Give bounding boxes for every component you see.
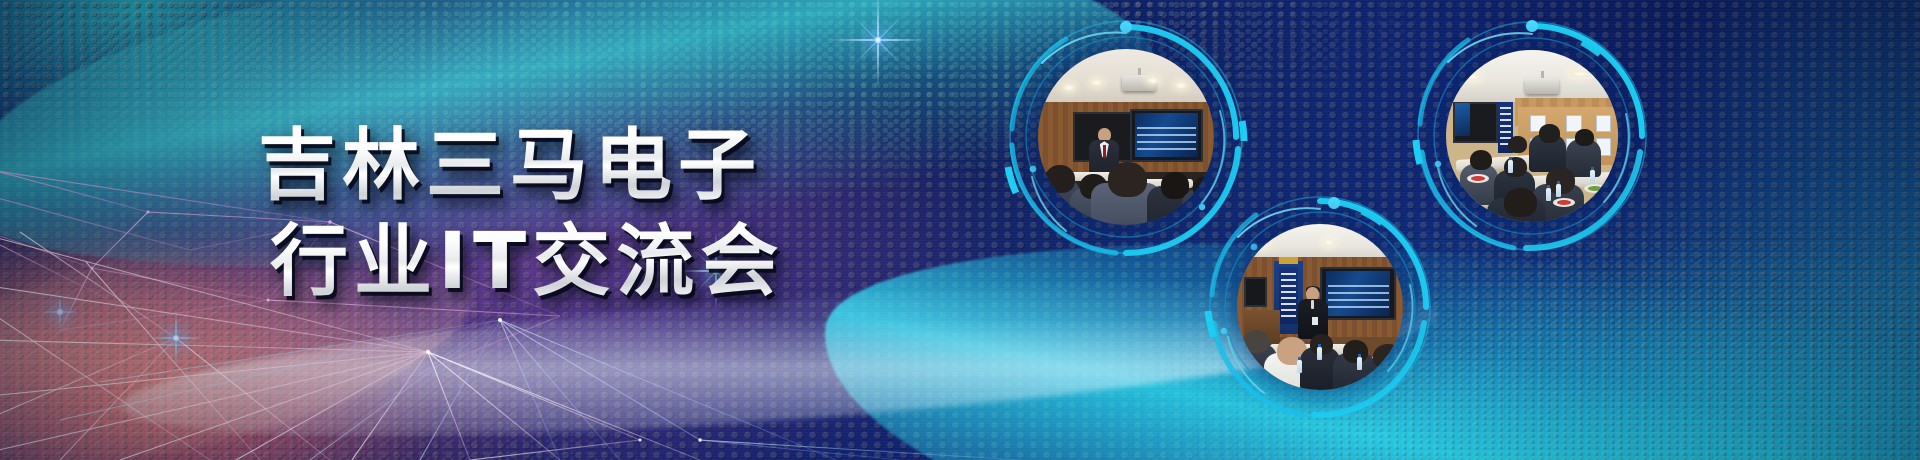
scene-auditorium bbox=[1038, 49, 1214, 225]
cabinet-shelf-cell bbox=[1596, 115, 1611, 133]
presenter-tie bbox=[1103, 145, 1106, 158]
photo-bubble-speaker-microphone[interactable] bbox=[1206, 193, 1434, 421]
screen-content-lines bbox=[1137, 127, 1196, 151]
audience-head bbox=[1045, 165, 1075, 193]
photo-speaker-microphone bbox=[1237, 224, 1403, 390]
participant-head bbox=[1343, 340, 1368, 363]
water-bottle bbox=[1508, 160, 1513, 173]
attendee-head bbox=[1575, 129, 1594, 146]
ceiling-panel-light bbox=[1463, 74, 1481, 80]
scene-speaker-room bbox=[1237, 224, 1403, 390]
ceiling-projector bbox=[1525, 78, 1559, 94]
attendee-head bbox=[1539, 124, 1560, 143]
water-bottle bbox=[1357, 357, 1362, 370]
door-banner bbox=[1279, 267, 1299, 323]
attendee-head bbox=[1470, 150, 1492, 171]
projection-screen bbox=[1320, 267, 1396, 320]
event-banner: 吉林三马电子 行业IT交流会 bbox=[0, 0, 1920, 460]
screen-content-lines bbox=[1328, 285, 1389, 309]
photo-bubble-meeting-room[interactable] bbox=[1414, 18, 1650, 254]
monitor-screen-glow bbox=[1455, 103, 1470, 136]
ceiling-light bbox=[1063, 84, 1075, 91]
banner-text-lines bbox=[1281, 273, 1295, 317]
ceiling-light bbox=[1091, 79, 1103, 86]
attendee-head bbox=[1508, 136, 1527, 153]
participant-head bbox=[1244, 330, 1269, 353]
attendee-head-foreground bbox=[1504, 188, 1537, 217]
scene-meeting-room bbox=[1446, 50, 1618, 222]
plate-of-food bbox=[1553, 198, 1575, 207]
ceiling-panel-light bbox=[1570, 71, 1590, 77]
photo-meeting-room bbox=[1446, 50, 1618, 222]
exit-sign bbox=[1279, 257, 1299, 264]
water-bottle bbox=[1297, 360, 1302, 373]
lanyard-badge bbox=[1312, 317, 1318, 325]
headline-line-1: 吉林三马电子 bbox=[258, 118, 784, 214]
water-bottle bbox=[1317, 347, 1322, 360]
presentation-screen bbox=[1130, 109, 1204, 162]
page-title: 吉林三马电子 行业IT交流会 bbox=[258, 118, 784, 310]
participant-head-foreground bbox=[1373, 344, 1403, 371]
headline-line-2: 行业IT交流会 bbox=[270, 214, 784, 310]
microphone bbox=[1311, 300, 1314, 309]
water-bottle bbox=[1556, 184, 1561, 197]
photo-lecture-hall bbox=[1038, 49, 1214, 225]
audience-head-foreground bbox=[1108, 162, 1147, 197]
plate-of-food bbox=[1584, 184, 1606, 193]
left-monitor bbox=[1244, 277, 1267, 307]
water-bottle bbox=[1546, 188, 1551, 201]
plate-of-food bbox=[1467, 174, 1489, 183]
water-bottle bbox=[1590, 170, 1595, 183]
